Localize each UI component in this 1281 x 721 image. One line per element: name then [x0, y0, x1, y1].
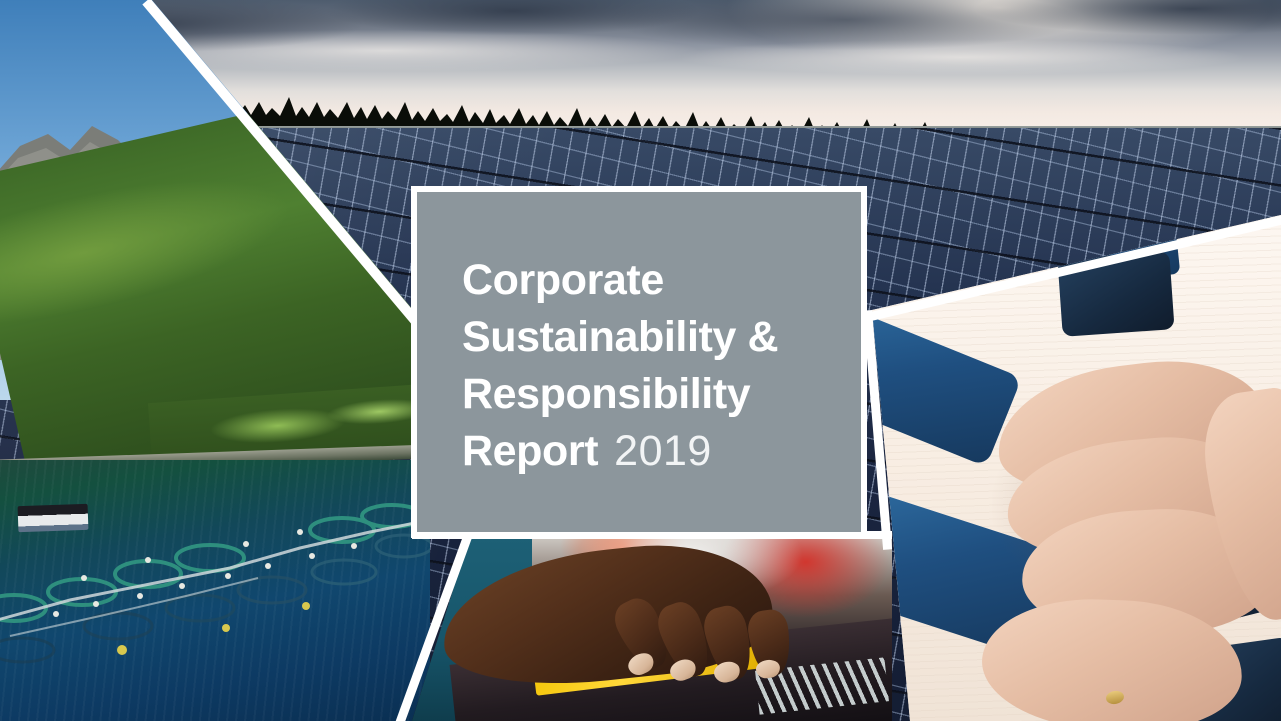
title-report-word: Report	[462, 423, 598, 480]
title-line-1: Corporate	[462, 252, 842, 309]
fish-farm-pens	[0, 450, 430, 721]
title-text-group: Corporate Sustainability & Responsibilit…	[462, 252, 842, 480]
title-block: Corporate Sustainability & Responsibilit…	[411, 186, 867, 538]
biometric-scanner-photo	[412, 536, 892, 721]
report-cover-page: Corporate Sustainability & Responsibilit…	[0, 0, 1281, 721]
title-line-2: Sustainability &	[462, 309, 842, 366]
report-year: 2019	[614, 423, 712, 480]
title-line-3: Responsibility	[462, 366, 842, 423]
title-line-4: Report 2019	[462, 423, 842, 480]
